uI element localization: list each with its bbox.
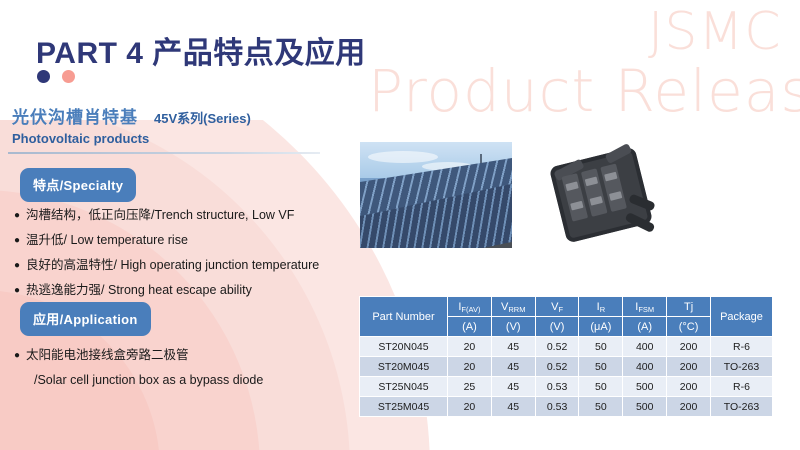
specialty-list: ● 沟槽结构，低正向压降/Trench structure, Low VF ● … bbox=[14, 207, 319, 307]
col-header-ir: IR bbox=[579, 297, 623, 317]
table-cell: 500 bbox=[623, 397, 667, 417]
specialty-item-text: 良好的高温特性/ High operating junction tempera… bbox=[26, 257, 319, 274]
col-header-vrrm: VRRM bbox=[491, 297, 535, 317]
table-cell: 400 bbox=[623, 357, 667, 377]
table-cell: 45 bbox=[491, 377, 535, 397]
col-header-ifsm: IFSM bbox=[623, 297, 667, 317]
dot-navy-icon bbox=[37, 70, 50, 83]
specialty-item-text: 沟槽结构，低正向压降/Trench structure, Low VF bbox=[26, 207, 294, 224]
list-item: ● 热逃逸能力强/ Strong heat escape ability bbox=[14, 282, 319, 299]
table-cell: 20 bbox=[448, 337, 492, 357]
table-cell: 0.52 bbox=[535, 337, 579, 357]
badge-specialty: 特点/Specialty bbox=[20, 168, 136, 202]
cell-part-number: ST25N045 bbox=[360, 377, 448, 397]
table-cell: 20 bbox=[448, 397, 492, 417]
junction-box-photo bbox=[545, 140, 657, 250]
subtitle-chinese: 光伏沟槽肖特基 bbox=[12, 103, 138, 128]
table-cell: TO-263 bbox=[711, 397, 773, 417]
col-header-tj: Tj bbox=[667, 297, 711, 317]
bullet-dot-icon: ● bbox=[14, 257, 20, 274]
col-header-part-number: Part Number bbox=[360, 297, 448, 337]
table-cell: TO-263 bbox=[711, 357, 773, 377]
badge-application: 应用/Application bbox=[20, 302, 151, 336]
col-unit-ifav: (A) bbox=[448, 317, 492, 337]
subtitle-series: 45V系列(Series) bbox=[154, 108, 251, 128]
cell-part-number: ST25M045 bbox=[360, 397, 448, 417]
table-cell: 50 bbox=[579, 377, 623, 397]
spec-table-header: Part Number IF(AV) VRRM VF IR IFSM Tj Pa… bbox=[360, 297, 773, 337]
page-title: PART 4 产品特点及应用 bbox=[36, 28, 366, 72]
list-item: ● 温升低/ Low temperature rise bbox=[14, 232, 319, 249]
table-cell: R-6 bbox=[711, 377, 773, 397]
table-cell: 25 bbox=[448, 377, 492, 397]
subscript: R bbox=[600, 305, 605, 314]
application-item-subline: /Solar cell junction box as a bypass dio… bbox=[34, 372, 263, 389]
table-cell: 200 bbox=[667, 377, 711, 397]
table-cell: R-6 bbox=[711, 337, 773, 357]
subscript: RRM bbox=[508, 305, 525, 314]
box-handle bbox=[605, 143, 633, 164]
list-item: ● 太阳能电池接线盒旁路二极管 bbox=[14, 347, 263, 364]
subscript: F bbox=[558, 305, 563, 314]
application-list: ● 太阳能电池接线盒旁路二极管 /Solar cell junction box… bbox=[14, 347, 263, 389]
table-row: ST25N04525450.5350500200R-6 bbox=[360, 377, 773, 397]
dot-pink-icon bbox=[62, 70, 75, 83]
table-cell: 400 bbox=[623, 337, 667, 357]
subscript: F(AV) bbox=[461, 305, 480, 314]
list-item: ● 沟槽结构，低正向压降/Trench structure, Low VF bbox=[14, 207, 319, 224]
col-unit-tj: (°C) bbox=[667, 317, 711, 337]
list-item: ● 良好的高温特性/ High operating junction tempe… bbox=[14, 257, 319, 274]
table-cell: 50 bbox=[579, 357, 623, 377]
title-dots-decoration bbox=[37, 70, 75, 83]
table-cell: 200 bbox=[667, 357, 711, 377]
table-cell: 45 bbox=[491, 357, 535, 377]
watermark-product-release: Product Release bbox=[368, 57, 800, 125]
subscript: FSM bbox=[638, 305, 654, 314]
watermark-jsmc: JSMC bbox=[648, 2, 782, 62]
bullet-dot-icon: ● bbox=[14, 347, 20, 364]
cell-part-number: ST20N045 bbox=[360, 337, 448, 357]
col-unit-ir: (μA) bbox=[579, 317, 623, 337]
table-cell: 45 bbox=[491, 337, 535, 357]
table-cell: 200 bbox=[667, 397, 711, 417]
table-cell: 45 bbox=[491, 397, 535, 417]
table-cell: 0.52 bbox=[535, 357, 579, 377]
col-header-package: Package bbox=[711, 297, 773, 337]
subtitle-row: 光伏沟槽肖特基 45V系列(Series) bbox=[12, 103, 251, 128]
table-row: ST20M04520450.5250400200TO-263 bbox=[360, 357, 773, 377]
cloud-shape bbox=[368, 151, 438, 163]
col-unit-ifsm: (A) bbox=[623, 317, 667, 337]
table-cell: 50 bbox=[579, 397, 623, 417]
col-header-vf: VF bbox=[535, 297, 579, 317]
table-cell: 20 bbox=[448, 357, 492, 377]
spec-table-body: ST20N04520450.5250400200R-6ST20M04520450… bbox=[360, 337, 773, 417]
application-item-text: 太阳能电池接线盒旁路二极管 bbox=[26, 347, 189, 364]
solar-panel-array-photo bbox=[360, 142, 512, 248]
spec-table: Part Number IF(AV) VRRM VF IR IFSM Tj Pa… bbox=[359, 296, 773, 417]
bullet-dot-icon: ● bbox=[14, 207, 20, 224]
specialty-item-text: 热逃逸能力强/ Strong heat escape ability bbox=[26, 282, 252, 299]
header-row-symbols: Part Number IF(AV) VRRM VF IR IFSM Tj Pa… bbox=[360, 297, 773, 317]
table-row: ST25M04520450.5350500200TO-263 bbox=[360, 397, 773, 417]
cell-part-number: ST20M045 bbox=[360, 357, 448, 377]
specialty-item-text: 温升低/ Low temperature rise bbox=[26, 232, 188, 249]
bullet-dot-icon: ● bbox=[14, 232, 20, 249]
table-cell: 0.53 bbox=[535, 377, 579, 397]
col-header-ifav: IF(AV) bbox=[448, 297, 492, 317]
header-divider bbox=[8, 152, 320, 154]
table-cell: 50 bbox=[579, 337, 623, 357]
col-unit-vf: (V) bbox=[535, 317, 579, 337]
table-row: ST20N04520450.5250400200R-6 bbox=[360, 337, 773, 357]
bullet-dot-icon: ● bbox=[14, 282, 20, 299]
subtitle-english: Photovoltaic products bbox=[12, 131, 149, 146]
table-cell: 500 bbox=[623, 377, 667, 397]
table-cell: 0.53 bbox=[535, 397, 579, 417]
col-unit-vrrm: (V) bbox=[491, 317, 535, 337]
table-cell: 200 bbox=[667, 337, 711, 357]
